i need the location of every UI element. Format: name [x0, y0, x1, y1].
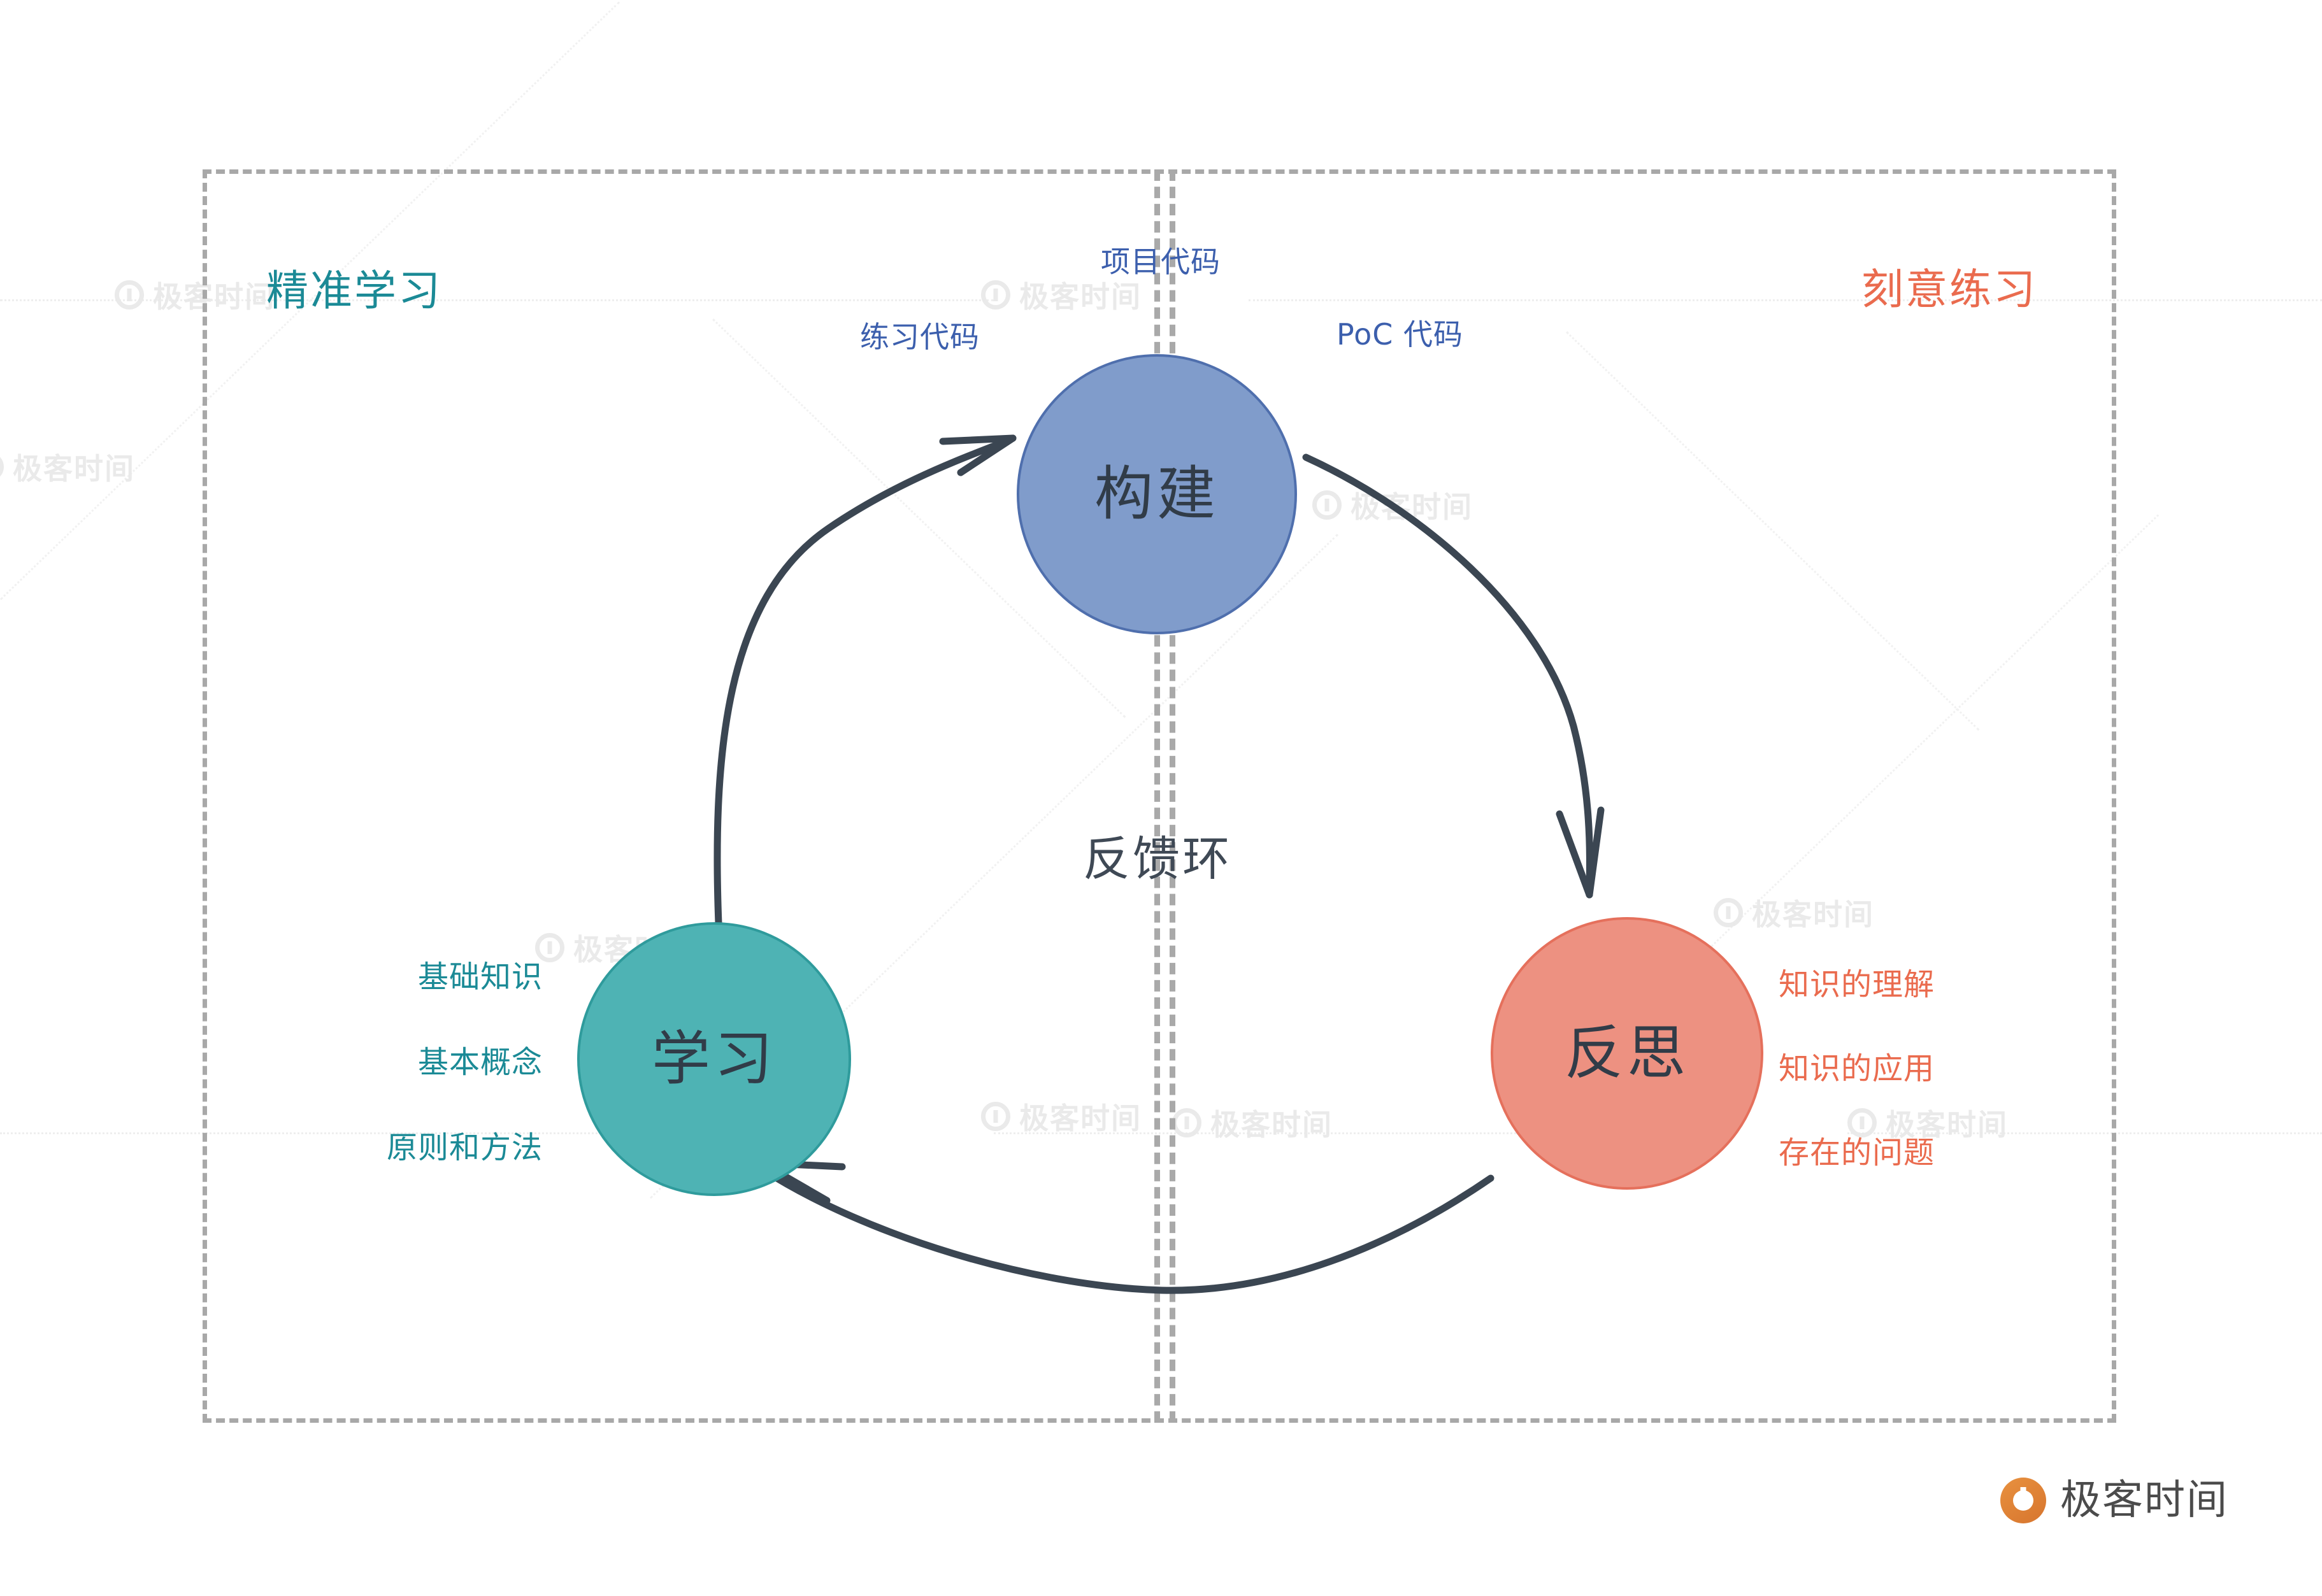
- node-build-label: 构建: [1094, 465, 1219, 524]
- right-item-application-of-knowledge: 知识的应用: [1779, 1053, 1935, 1084]
- section-title-precise-learning: 精准学习: [266, 270, 442, 312]
- center-label-feedback-loop: 反馈环: [1083, 836, 1232, 883]
- node-reflect[interactable]: 反思: [1491, 917, 1763, 1190]
- left-item-principles-and-methods: 原则和方法: [352, 1132, 543, 1163]
- right-item-existing-problems: 存在的问题: [1779, 1137, 1935, 1168]
- node-learn[interactable]: 学习: [577, 922, 851, 1196]
- left-item-basic-concepts: 基本概念: [352, 1047, 543, 1078]
- left-item-foundational-knowledge: 基础知识: [352, 962, 543, 992]
- section-title-deliberate-practice: 刻意练习: [1861, 269, 2037, 311]
- brand-name: 极客时间: [2060, 1480, 2228, 1521]
- edge-label-practice-code: 练习代码: [860, 322, 980, 352]
- edge-label-poc-code: PoC 代码: [1337, 320, 1463, 349]
- node-learn-label: 学习: [652, 1030, 777, 1088]
- diagram-canvas: 极客时间 极客时间 极客时间 极客时间 极客时间 极客时间 极客时间 极客时间 …: [0, 0, 2322, 1596]
- brand-logo: 极客时间: [2000, 1478, 2228, 1523]
- node-build[interactable]: 构建: [1017, 354, 1297, 634]
- right-item-understanding-of-knowledge: 知识的理解: [1779, 969, 1935, 1000]
- edge-label-project-code: 项目代码: [1101, 247, 1221, 276]
- node-reflect-label: 反思: [1565, 1024, 1689, 1083]
- geekbang-logo-icon: [2000, 1478, 2046, 1523]
